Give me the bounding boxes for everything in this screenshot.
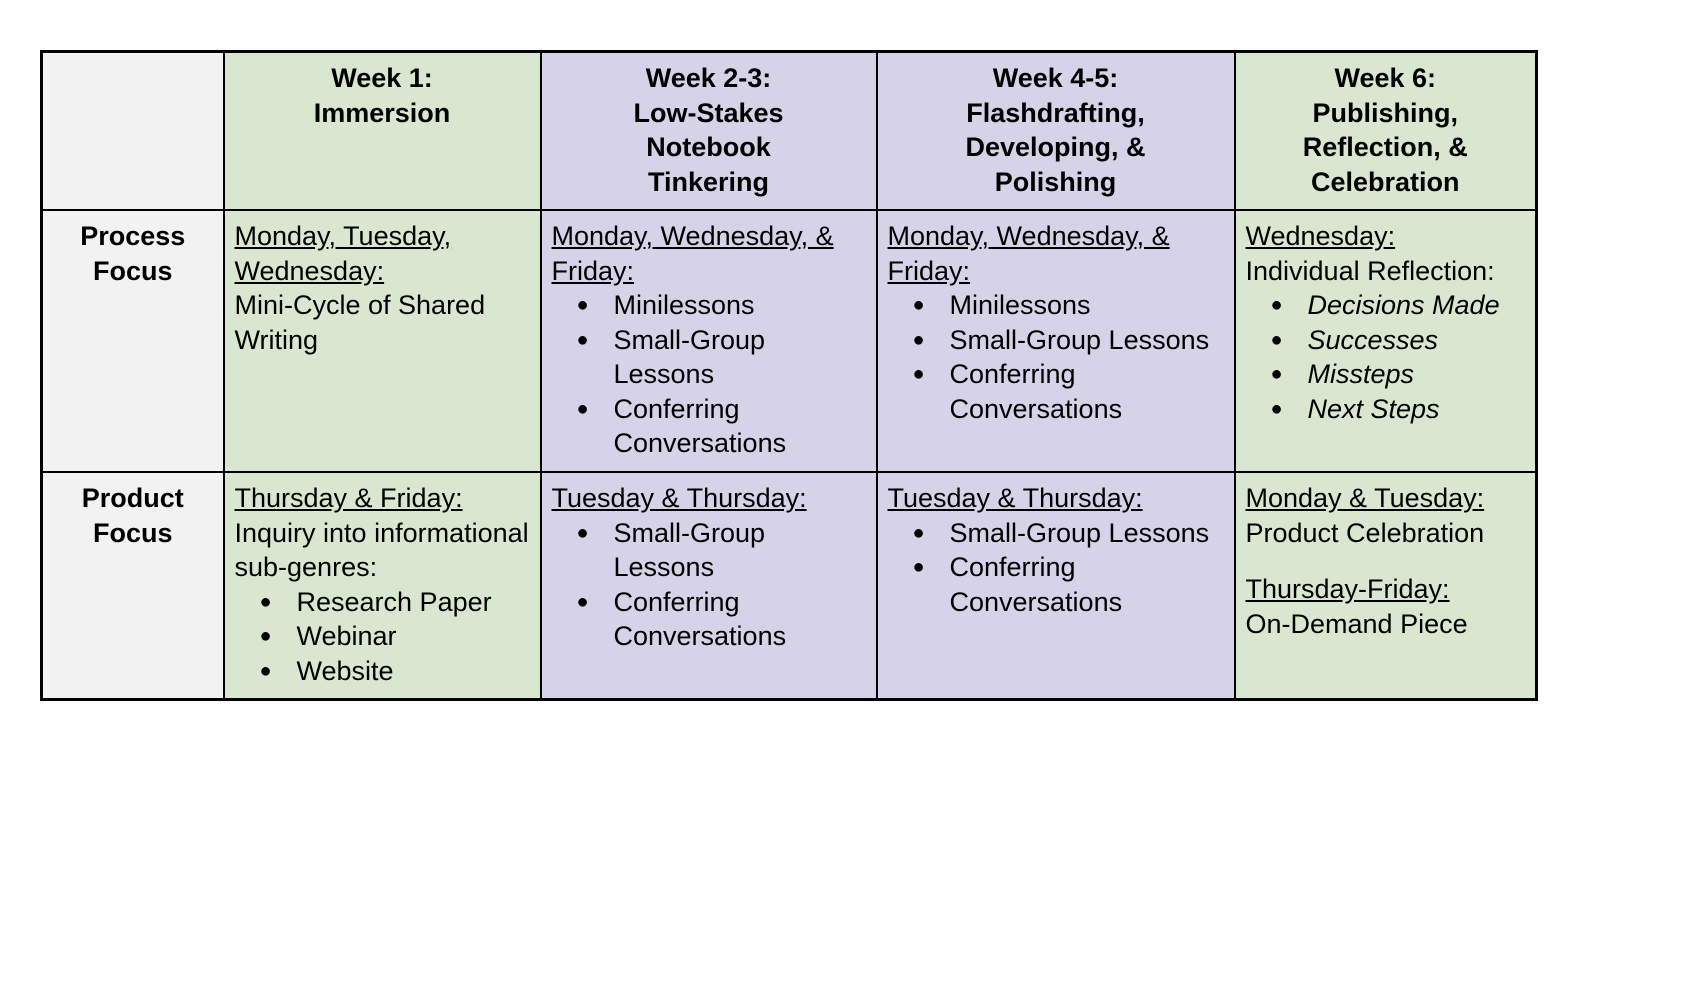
day-label: Monday, Tuesday, Wednesday:: [235, 219, 530, 288]
header-cell-week1: Week 1: Immersion: [224, 52, 541, 211]
bullet-list: Minilessons Small-Group Lessons Conferri…: [552, 288, 866, 461]
list-item: Conferring Conversations: [950, 357, 1224, 426]
list-item: Minilessons: [950, 288, 1224, 323]
cell-process-week1: Monday, Tuesday, Wednesday: Mini-Cycle o…: [224, 210, 541, 472]
table-row-process-focus: Process Focus Monday, Tuesday, Wednesday…: [42, 210, 1537, 472]
paragraph-spacer: [1246, 550, 1526, 572]
cell-process-week45: Monday, Wednesday, & Friday: Minilessons…: [877, 210, 1235, 472]
day-label-secondary: Thursday-Friday:: [1246, 572, 1526, 607]
day-label: Tuesday & Thursday:: [552, 481, 866, 516]
header-week1-line2: Immersion: [235, 96, 530, 131]
list-item: Minilessons: [614, 288, 866, 323]
row-label-process-focus: Process Focus: [42, 210, 224, 472]
header-week1-line1: Week 1:: [235, 61, 530, 96]
bullet-list: Small-Group Lessons Conferring Conversat…: [888, 516, 1224, 620]
row-label-process-line2: Focus: [53, 254, 213, 289]
day-label: Wednesday:: [1246, 219, 1526, 254]
header-cell-blank: [42, 52, 224, 211]
cell-process-week23: Monday, Wednesday, & Friday: Minilessons…: [541, 210, 877, 472]
day-label: Thursday & Friday:: [235, 481, 530, 516]
list-item: Missteps: [1308, 357, 1526, 392]
header-cell-week23: Week 2-3: Low-Stakes Notebook Tinkering: [541, 52, 877, 211]
bullet-list: Minilessons Small-Group Lessons Conferri…: [888, 288, 1224, 426]
cell-product-week23: Tuesday & Thursday: Small-Group Lessons …: [541, 472, 877, 700]
list-item: Conferring Conversations: [614, 392, 866, 461]
list-item: Small-Group Lessons: [950, 516, 1224, 551]
bullet-list: Decisions Made Successes Missteps Next S…: [1246, 288, 1526, 426]
cell-body-text: Individual Reflection:: [1246, 254, 1526, 289]
list-item: Website: [297, 654, 530, 689]
list-item: Research Paper: [297, 585, 530, 620]
header-cell-week45: Week 4-5: Flashdrafting, Developing, & P…: [877, 52, 1235, 211]
page-root: Week 1: Immersion Week 2-3: Low-Stakes N…: [0, 0, 1700, 1002]
cell-product-week1: Thursday & Friday: Inquiry into informat…: [224, 472, 541, 700]
list-item: Conferring Conversations: [950, 550, 1224, 619]
list-item: Small-Group Lessons: [614, 323, 866, 392]
list-item: Successes: [1308, 323, 1526, 358]
day-label: Monday, Wednesday, & Friday:: [552, 219, 866, 288]
header-week45-line4: Polishing: [888, 165, 1224, 200]
header-week6-line1: Week 6:: [1246, 61, 1526, 96]
cell-body-text: Inquiry into informational sub-genres:: [235, 516, 530, 585]
list-item: Next Steps: [1308, 392, 1526, 427]
bullet-list: Research Paper Webinar Website: [235, 585, 530, 689]
cell-body-text: Mini-Cycle of Shared Writing: [235, 288, 530, 357]
table-header-row: Week 1: Immersion Week 2-3: Low-Stakes N…: [42, 52, 1537, 211]
day-label: Monday & Tuesday:: [1246, 481, 1526, 516]
row-label-product-line1: Product: [53, 481, 213, 516]
header-week6-line3: Reflection, &: [1246, 130, 1526, 165]
row-label-product-focus: Product Focus: [42, 472, 224, 700]
header-week23-line1: Week 2-3:: [552, 61, 866, 96]
list-item: Small-Group Lessons: [614, 516, 866, 585]
day-label: Tuesday & Thursday:: [888, 481, 1224, 516]
header-week6-line4: Celebration: [1246, 165, 1526, 200]
cell-process-week6: Wednesday: Individual Reflection: Decisi…: [1235, 210, 1537, 472]
list-item: Conferring Conversations: [614, 585, 866, 654]
cell-body-text: Product Celebration: [1246, 516, 1526, 551]
unit-schedule-table: Week 1: Immersion Week 2-3: Low-Stakes N…: [40, 50, 1538, 701]
header-week45-line1: Week 4-5:: [888, 61, 1224, 96]
table-row-product-focus: Product Focus Thursday & Friday: Inquiry…: [42, 472, 1537, 700]
day-label: Monday, Wednesday, & Friday:: [888, 219, 1224, 288]
cell-body-text-secondary: On-Demand Piece: [1246, 607, 1526, 642]
cell-product-week45: Tuesday & Thursday: Small-Group Lessons …: [877, 472, 1235, 700]
row-label-process-line1: Process: [53, 219, 213, 254]
bullet-list: Small-Group Lessons Conferring Conversat…: [552, 516, 866, 654]
header-week45-line3: Developing, &: [888, 130, 1224, 165]
header-week6-line2: Publishing,: [1246, 96, 1526, 131]
list-item: Webinar: [297, 619, 530, 654]
list-item: Decisions Made: [1308, 288, 1526, 323]
list-item: Small-Group Lessons: [950, 323, 1224, 358]
header-week23-line2: Low-Stakes: [552, 96, 866, 131]
cell-product-week6: Monday & Tuesday: Product Celebration Th…: [1235, 472, 1537, 700]
header-week23-line4: Tinkering: [552, 165, 866, 200]
header-cell-week6: Week 6: Publishing, Reflection, & Celebr…: [1235, 52, 1537, 211]
header-week23-line3: Notebook: [552, 130, 866, 165]
row-label-product-line2: Focus: [53, 516, 213, 551]
header-week45-line2: Flashdrafting,: [888, 96, 1224, 131]
